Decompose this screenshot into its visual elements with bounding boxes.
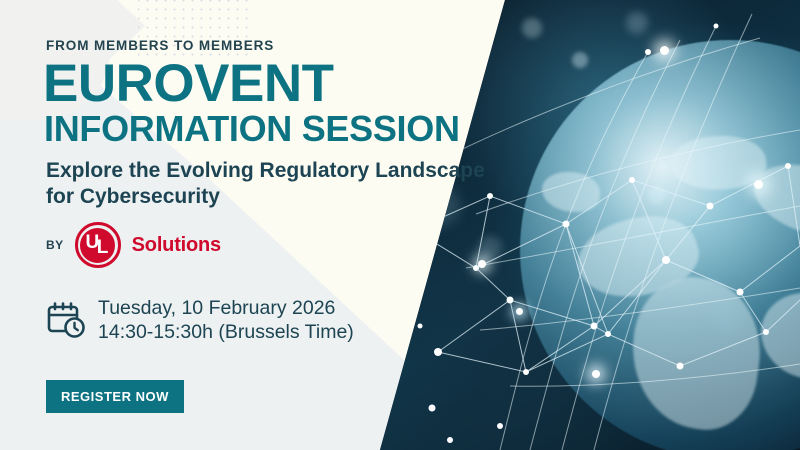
banner-content: FROM MEMBERS TO MEMBERS EUROVENT INFORMA…: [46, 0, 516, 450]
calendar-clock-icon: [46, 300, 86, 340]
ul-mark-letter-l: L: [97, 238, 108, 257]
page-title: EUROVENT: [43, 57, 333, 110]
glow-node: [660, 46, 669, 55]
page-subtitle: INFORMATION SESSION: [44, 111, 460, 147]
register-now-button[interactable]: REGISTER NOW: [46, 380, 184, 413]
event-time-line: 14:30-15:30h (Brussels Time): [98, 321, 354, 343]
glow-node: [516, 308, 523, 315]
partner-attribution: BY UL Solutions: [46, 222, 221, 268]
event-datetime-text: Tuesday, 10 February 2026 14:30-15:30h (…: [98, 296, 354, 345]
tagline-text: Explore the Evolving Regulatory Landscap…: [46, 158, 496, 211]
eyebrow-text: FROM MEMBERS TO MEMBERS: [46, 38, 274, 53]
ul-solutions-wordmark: Solutions: [132, 234, 221, 257]
glow-node: [754, 180, 763, 189]
event-date-line: Tuesday, 10 February 2026: [98, 297, 335, 319]
ul-logo-icon: UL: [75, 222, 121, 268]
event-banner: FROM MEMBERS TO MEMBERS EUROVENT INFORMA…: [0, 0, 800, 450]
by-label: BY: [46, 238, 64, 252]
glow-node: [592, 370, 600, 378]
event-datetime: Tuesday, 10 February 2026 14:30-15:30h (…: [46, 296, 354, 345]
